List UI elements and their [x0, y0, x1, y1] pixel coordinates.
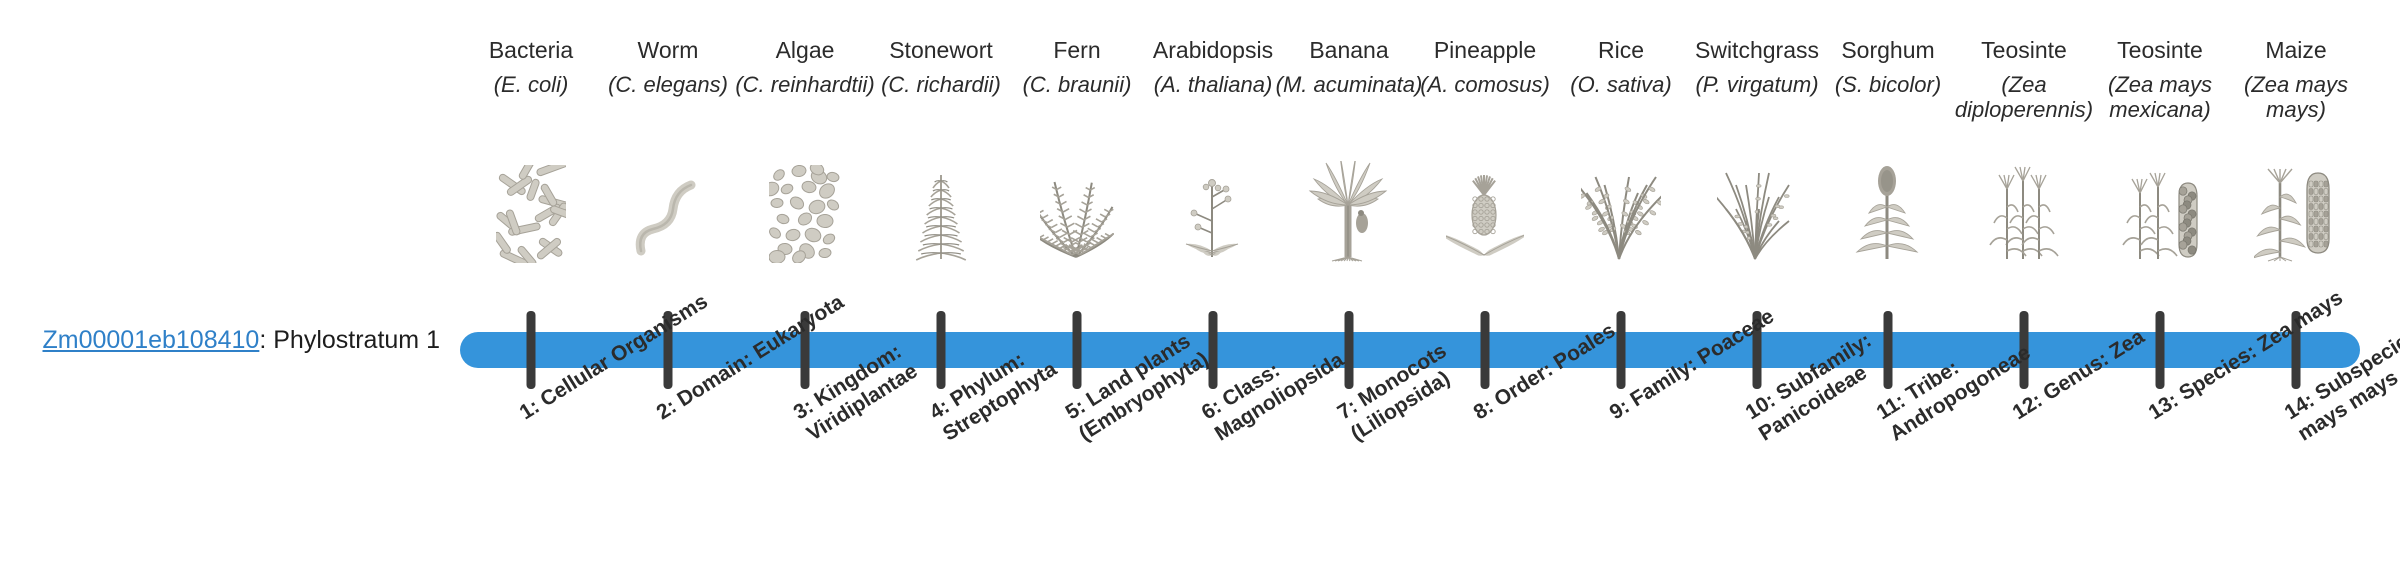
species-common-name: Algae	[730, 36, 880, 64]
worm-illustration	[593, 168, 743, 263]
species-common-name: Arabidopsis	[1138, 36, 1288, 64]
fern-illustration	[1002, 168, 1152, 263]
gene-phylostratum-label: Zm00001eb108410: Phylostratum 1	[0, 325, 440, 355]
maize-illustration	[2221, 168, 2371, 263]
species-common-name: Sorghum	[1813, 36, 1963, 64]
species-common-name: Teosinte	[2085, 36, 2235, 64]
species-common-name: Pineapple	[1410, 36, 1560, 64]
species-column-1: Bacteria(E. coli)	[456, 36, 606, 97]
species-column-3: Algae(C. reinhardtii)	[730, 36, 880, 97]
species-common-name: Fern	[1002, 36, 1152, 64]
species-scientific-name: (M. acuminata)	[1274, 72, 1424, 97]
species-column-14: Maize(Zea mays mays)	[2221, 36, 2371, 122]
bacteria-illustration	[456, 168, 606, 263]
species-scientific-name: (P. virgatum)	[1682, 72, 1832, 97]
teosinte-illustration	[1949, 168, 2099, 263]
species-scientific-name: (Zea mays mexicana)	[2085, 72, 2235, 122]
species-column-13: Teosinte(Zea mays mexicana)	[2085, 36, 2235, 122]
phylostratum-value: Phylostratum 1	[273, 326, 440, 354]
species-column-10: Switchgrass(P. virgatum)	[1682, 36, 1832, 97]
species-scientific-name: (A. comosus)	[1410, 72, 1560, 97]
species-column-8: Pineapple(A. comosus)	[1410, 36, 1560, 97]
gene-label-separator: :	[259, 326, 273, 354]
species-column-11: Sorghum(S. bicolor)	[1813, 36, 1963, 97]
species-common-name: Switchgrass	[1682, 36, 1832, 64]
pineapple-illustration	[1410, 168, 1560, 263]
phylostratigraphy-figure: Zm00001eb108410: Phylostratum 1 Bacteria…	[0, 0, 2400, 580]
teosinte-ear-illustration	[2085, 168, 2235, 263]
species-column-5: Fern(C. braunii)	[1002, 36, 1152, 97]
species-scientific-name: (S. bicolor)	[1813, 72, 1963, 97]
species-common-name: Rice	[1546, 36, 1696, 64]
species-common-name: Worm	[593, 36, 743, 64]
species-scientific-name: (E. coli)	[456, 72, 606, 97]
species-common-name: Banana	[1274, 36, 1424, 64]
gene-id-link[interactable]: Zm00001eb108410	[42, 326, 259, 354]
species-scientific-name: (Zea mays mays)	[2221, 72, 2371, 122]
species-scientific-name: (O. sativa)	[1546, 72, 1696, 97]
species-column-6: Arabidopsis(A. thaliana)	[1138, 36, 1288, 97]
stonewort-illustration	[866, 168, 1016, 263]
species-column-12: Teosinte(Zea diploperennis)	[1949, 36, 2099, 122]
arabidopsis-illustration	[1138, 168, 1288, 263]
species-column-2: Worm(C. elegans)	[593, 36, 743, 97]
species-column-4: Stonewort(C. richardii)	[866, 36, 1016, 97]
species-scientific-name: (C. reinhardtii)	[730, 72, 880, 97]
sorghum-illustration	[1813, 168, 1963, 263]
species-column-7: Banana(M. acuminata)	[1274, 36, 1424, 97]
species-scientific-name: (C. elegans)	[593, 72, 743, 97]
species-column-9: Rice(O. sativa)	[1546, 36, 1696, 97]
switchgrass-illustration	[1682, 168, 1832, 263]
species-common-name: Teosinte	[1949, 36, 2099, 64]
banana-illustration	[1274, 168, 1424, 263]
species-common-name: Bacteria	[456, 36, 606, 64]
species-common-name: Stonewort	[866, 36, 1016, 64]
rice-illustration	[1546, 168, 1696, 263]
timeline-tick-1[interactable]	[527, 311, 536, 389]
species-scientific-name: (Zea diploperennis)	[1949, 72, 2099, 122]
species-scientific-name: (C. richardii)	[866, 72, 1016, 97]
species-scientific-name: (A. thaliana)	[1138, 72, 1288, 97]
species-scientific-name: (C. braunii)	[1002, 72, 1152, 97]
algae-illustration	[730, 168, 880, 263]
species-common-name: Maize	[2221, 36, 2371, 64]
